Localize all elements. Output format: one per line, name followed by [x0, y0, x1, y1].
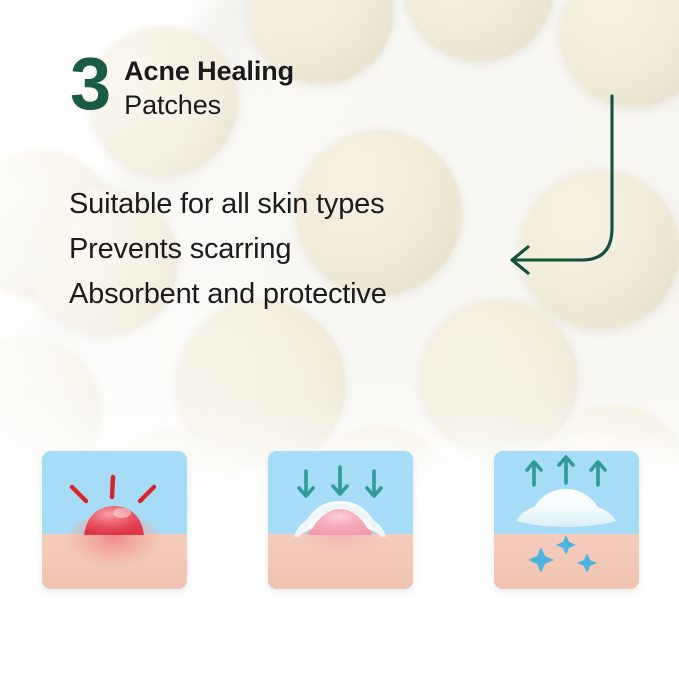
process-panels — [42, 451, 639, 591]
lift-arrow-left — [527, 462, 541, 485]
absorb-arrow-right — [367, 471, 381, 496]
curved-arrow-icon — [490, 88, 630, 283]
absorb-arrow-center — [333, 467, 347, 494]
heading-block: 3 Acne Healing Patches — [70, 48, 294, 123]
inflamed-pimple-illustration — [42, 451, 187, 589]
panel-inflamed-pimple — [42, 451, 187, 589]
benefit-line: Absorbent and protective — [69, 272, 387, 317]
patch-absorbing-illustration — [268, 451, 413, 589]
pimple-bump — [84, 506, 144, 535]
irritation-line-right — [140, 487, 154, 501]
irritation-line-left — [72, 487, 86, 501]
panel-patch-removed — [494, 451, 639, 589]
heading-title-bold: Acne Healing — [124, 55, 294, 88]
lift-arrow-right — [591, 462, 605, 485]
benefit-list: Suitable for all skin types Prevents sca… — [69, 182, 387, 317]
product-count-number: 3 — [70, 50, 109, 118]
sparkle-top — [556, 535, 576, 555]
arrow-shaft — [514, 96, 612, 260]
sparkle-left — [528, 547, 554, 573]
sparkle-right — [577, 553, 597, 573]
product-feature-graphic: 3 Acne Healing Patches Suitable for all … — [0, 0, 679, 679]
bottom-white-area — [0, 600, 679, 679]
heading-lines: Acne Healing Patches — [124, 48, 294, 123]
pimple-highlight — [113, 508, 131, 518]
heading-title-regular: Patches — [124, 88, 294, 123]
lifted-patch — [516, 489, 616, 527]
irritation-line-center — [112, 477, 113, 497]
absorb-arrow-left — [299, 471, 313, 496]
benefit-line: Prevents scarring — [69, 227, 387, 272]
lift-arrow-center — [559, 457, 573, 483]
panel-patch-applied — [268, 451, 413, 589]
benefit-line: Suitable for all skin types — [69, 182, 387, 227]
patch-removed-illustration — [494, 451, 639, 589]
